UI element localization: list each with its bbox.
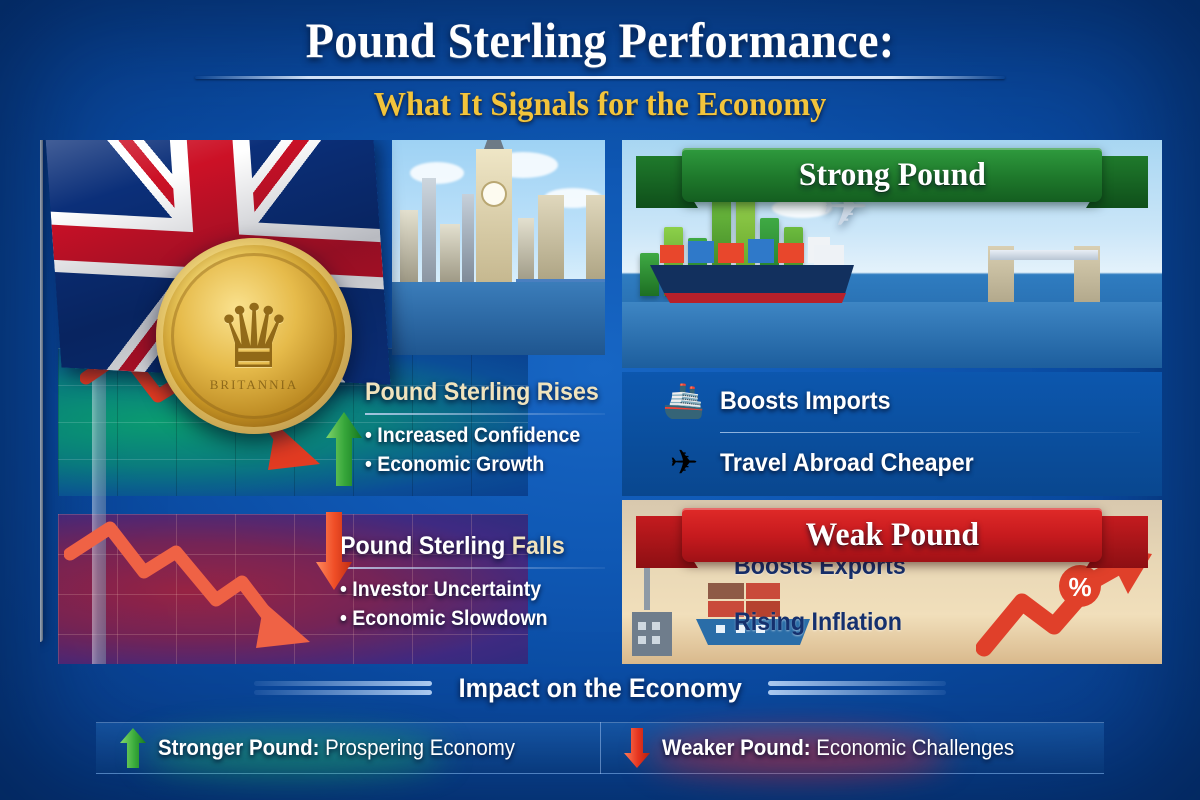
weak-item-2-label: Rising Inflation: [734, 608, 902, 637]
strong-item-1-label: Boosts Imports: [720, 387, 891, 416]
clock-face-icon: [483, 183, 505, 205]
panel-grid: ♛ BRITANNIA Pound Sterling Rises • Incre…: [40, 140, 1162, 664]
footer-title: Impact on the Economy: [458, 673, 741, 704]
footer-item-stronger-rest: Prospering Economy: [325, 735, 515, 760]
strong-pound-banner: Strong Pound: [636, 144, 1148, 206]
strong-item-1: 🚢 Boosts Imports: [648, 374, 1140, 428]
left-column-panel: ♛ BRITANNIA Pound Sterling Rises • Incre…: [40, 140, 605, 664]
big-ben-icon: [476, 149, 512, 291]
pound-falls-block: Pound Sterling Falls • Investor Uncertai…: [340, 532, 605, 634]
footer-item-weaker-bold: Weaker Pound:: [662, 735, 811, 760]
pound-rises-bullet-1: • Increased Confidence: [365, 422, 598, 451]
arrow-down-icon: [316, 512, 352, 590]
arrow-up-icon: [326, 412, 362, 486]
trend-line-down-panel: [64, 508, 334, 664]
arrow-up-icon: [120, 728, 146, 768]
page-title: Pound Sterling Performance:: [42, 14, 1158, 67]
header: Pound Sterling Performance: What It Sign…: [0, 14, 1200, 124]
weak-pound-banner-label: Weak Pound: [805, 517, 978, 554]
right-column-panel: ✈ 🚢 Boosts Imports ✈ Travel Abroad Cheap…: [622, 140, 1162, 664]
strong-pound-list: 🚢 Boosts Imports ✈ Travel Abroad Cheaper: [622, 372, 1162, 496]
pound-rises-divider: [365, 413, 605, 415]
coin-legend: BRITANNIA: [171, 377, 337, 393]
footer-item-weaker-rest: Economic Challenges: [816, 735, 1014, 760]
footer-item-weaker-pound: Weaker Pound: Economic Challenges: [600, 728, 1104, 768]
airplane-icon: ✈: [648, 443, 720, 483]
pound-falls-divider: [340, 567, 605, 569]
footer-rule-right: [768, 677, 946, 699]
svg-text:%: %: [1068, 572, 1091, 602]
weak-item-2: Rising Inflation: [734, 608, 915, 637]
strong-item-2-label: Travel Abroad Cheaper: [720, 449, 974, 478]
weak-pound-banner: Weak Pound: [636, 504, 1148, 566]
strong-list-divider: [720, 432, 1140, 433]
pound-rises-block: Pound Sterling Rises • Increased Confide…: [365, 378, 605, 480]
gold-sovereign-coin: ♛ BRITANNIA: [156, 238, 352, 434]
footer-rule-left: [254, 677, 432, 699]
strong-pound-banner-label: Strong Pound: [799, 157, 986, 194]
pound-rises-bullet-2: • Economic Growth: [365, 451, 598, 480]
pound-falls-heading-accent: Falls: [512, 532, 565, 560]
pound-falls-heading-plain: Pound Sterling: [340, 532, 505, 560]
pound-falls-bullet-1: • Investor Uncertainty: [340, 576, 596, 605]
footer-summary-bar: Stronger Pound: Prospering Economy Weake…: [96, 722, 1104, 774]
cargo-ship-icon: 🚢: [648, 381, 720, 421]
pound-falls-bullet-2: • Economic Slowdown: [340, 605, 596, 634]
london-skyline-image: [392, 140, 605, 355]
pound-falls-heading: Pound Sterling Falls: [340, 532, 596, 561]
title-divider: [195, 76, 1005, 79]
footer-item-stronger-text: Stronger Pound: Prospering Economy: [158, 735, 515, 761]
flagpole: [40, 140, 43, 642]
footer-heading-row: Impact on the Economy: [0, 664, 1200, 712]
footer: Impact on the Economy Stronger Pound: Pr…: [0, 664, 1200, 800]
page-subtitle: What It Signals for the Economy: [30, 86, 1170, 124]
footer-item-weaker-text: Weaker Pound: Economic Challenges: [662, 735, 1014, 761]
strong-item-2: ✈ Travel Abroad Cheaper: [648, 436, 1140, 490]
arrow-down-icon: [624, 728, 650, 768]
footer-item-stronger-bold: Stronger Pound:: [158, 735, 319, 760]
royal-coat-of-arms-icon: ♛: [171, 253, 337, 419]
pound-rises-heading: Pound Sterling Rises: [365, 378, 598, 407]
infographic-poster: Pound Sterling Performance: What It Sign…: [0, 0, 1200, 800]
footer-item-stronger-pound: Stronger Pound: Prospering Economy: [96, 728, 600, 768]
